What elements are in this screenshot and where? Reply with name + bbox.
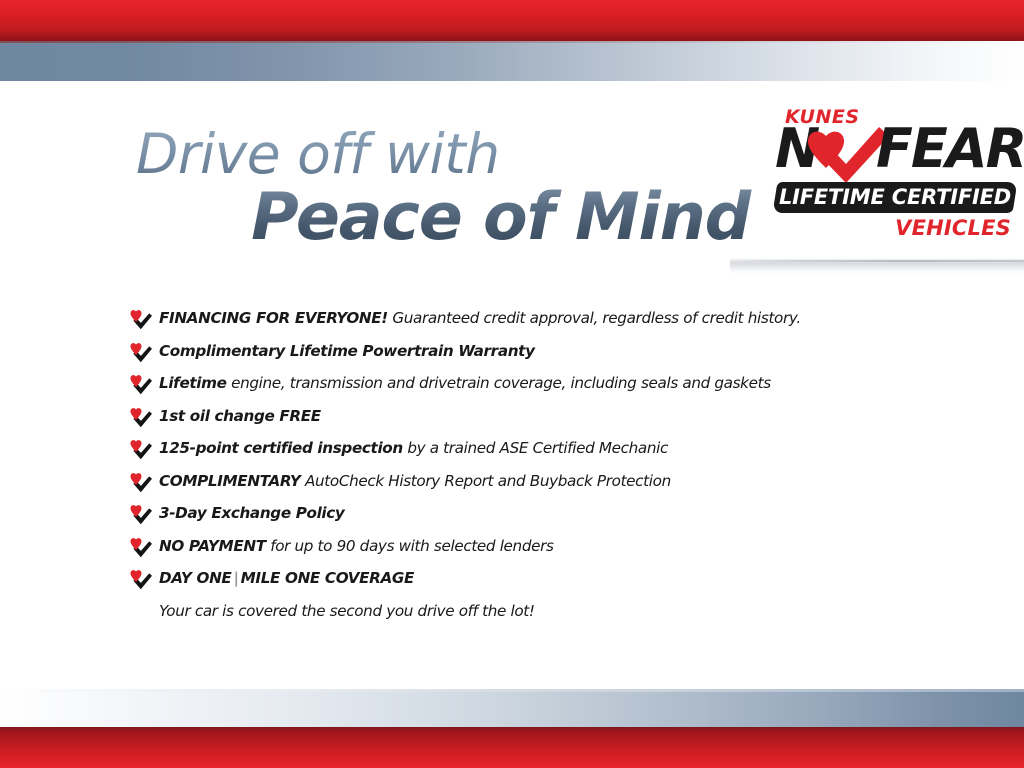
- benefit-separator: |: [231, 569, 240, 587]
- benefit-text-strong: 125-point certified inspection: [159, 439, 403, 457]
- benefit-text: DAY ONE|MILE ONE COVERAGE: [159, 568, 414, 588]
- benefit-text-normal: engine, transmission and drivetrain cove…: [227, 374, 771, 392]
- benefit-text-strong: Lifetime: [159, 374, 227, 392]
- benefit-item: NO PAYMENT for up to 90 days with select…: [130, 536, 970, 559]
- logo-lifetime-certified-text: LIFETIME CERTIFIED: [775, 182, 1015, 213]
- benefit-text-normal: AutoCheck History Report and Buyback Pro…: [301, 472, 671, 490]
- benefit-text-strong: FINANCING FOR EVERYONE!: [159, 309, 388, 327]
- heart-check-icon: [130, 537, 152, 559]
- logo-vehicles-text: VEHICLES: [895, 216, 1011, 240]
- heart-check-icon: [130, 374, 152, 396]
- benefit-row: Complimentary Lifetime Powertrain Warran…: [130, 341, 970, 364]
- benefit-item: COMPLIMENTARY AutoCheck History Report a…: [130, 471, 970, 494]
- benefit-text: Complimentary Lifetime Powertrain Warran…: [159, 341, 535, 361]
- benefit-text-strong: MILE ONE COVERAGE: [241, 569, 414, 587]
- benefit-text: Lifetime engine, transmission and drivet…: [159, 373, 771, 393]
- benefit-row: 1st oil change FREE: [130, 406, 970, 429]
- heart-check-icon: [130, 342, 152, 364]
- top-gray-gradient-bar: [0, 41, 1024, 81]
- benefit-text-strong: Complimentary Lifetime Powertrain Warran…: [159, 342, 535, 360]
- benefit-row: 125-point certified inspection by a trai…: [130, 438, 970, 461]
- header-divider: [730, 258, 1024, 274]
- benefits-list: FINANCING FOR EVERYONE! Guaranteed credi…: [130, 308, 970, 622]
- benefit-text-strong: NO PAYMENT: [159, 537, 266, 555]
- benefit-text: COMPLIMENTARY AutoCheck History Report a…: [159, 471, 671, 491]
- benefit-text-normal: Guaranteed credit approval, regardless o…: [388, 309, 801, 327]
- benefit-text-normal: by a trained ASE Certified Mechanic: [403, 439, 668, 457]
- benefit-item: DAY ONE|MILE ONE COVERAGEYour car is cov…: [130, 568, 970, 622]
- promo-page: Drive off with Peace of Mind KUNES N FEA…: [0, 0, 1024, 768]
- kunes-no-fear-logo: KUNES N FEAR LIFETIME CERTIFIED VEHICLES: [775, 106, 1015, 246]
- benefit-item: 3-Day Exchange Policy: [130, 503, 970, 526]
- benefit-text: 125-point certified inspection by a trai…: [159, 438, 668, 458]
- benefit-item: 125-point certified inspection by a trai…: [130, 438, 970, 461]
- benefit-text-strong: COMPLIMENTARY: [159, 472, 301, 490]
- benefit-text: NO PAYMENT for up to 90 days with select…: [159, 536, 554, 556]
- benefit-row: 3-Day Exchange Policy: [130, 503, 970, 526]
- top-red-banner-bar: [0, 0, 1024, 41]
- bottom-red-banner-bar: [0, 727, 1024, 768]
- heart-check-icon: [130, 504, 152, 526]
- heart-check-icon: [130, 439, 152, 461]
- benefit-row: NO PAYMENT for up to 90 days with select…: [130, 536, 970, 559]
- headline-line-1: Drive off with: [136, 126, 756, 182]
- benefit-item: Complimentary Lifetime Powertrain Warran…: [130, 341, 970, 364]
- benefit-text: 3-Day Exchange Policy: [159, 503, 344, 523]
- benefit-text: FINANCING FOR EVERYONE! Guaranteed credi…: [159, 308, 801, 328]
- benefit-text-strong: 1st oil change FREE: [159, 407, 321, 425]
- benefit-row: COMPLIMENTARY AutoCheck History Report a…: [130, 471, 970, 494]
- benefit-row: DAY ONE|MILE ONE COVERAGE: [130, 568, 970, 591]
- heart-check-icon: [130, 309, 152, 331]
- benefit-text-normal: for up to 90 days with selected lenders: [266, 537, 554, 555]
- benefit-text: 1st oil change FREE: [159, 406, 321, 426]
- benefit-row: FINANCING FOR EVERYONE! Guaranteed credi…: [130, 308, 970, 331]
- benefit-item: Lifetime engine, transmission and drivet…: [130, 373, 970, 396]
- benefit-subtext: Your car is covered the second you drive…: [159, 601, 970, 622]
- bottom-gray-gradient-bar: [0, 689, 1024, 727]
- heart-check-icon: [130, 472, 152, 494]
- benefit-text-strong: DAY ONE: [159, 569, 231, 587]
- headline-line-2: Peace of Mind: [136, 182, 756, 254]
- benefit-text-strong: 3-Day Exchange Policy: [159, 504, 344, 522]
- headline-block: Drive off with Peace of Mind: [136, 126, 756, 254]
- heart-check-icon: [130, 407, 152, 429]
- logo-fear-text: FEAR: [876, 121, 1024, 177]
- benefit-item: 1st oil change FREE: [130, 406, 970, 429]
- logo-wordmark: N FEAR: [775, 125, 1015, 181]
- benefit-row: Lifetime engine, transmission and drivet…: [130, 373, 970, 396]
- heart-check-icon: [130, 569, 152, 591]
- benefit-item: FINANCING FOR EVERYONE! Guaranteed credi…: [130, 308, 970, 331]
